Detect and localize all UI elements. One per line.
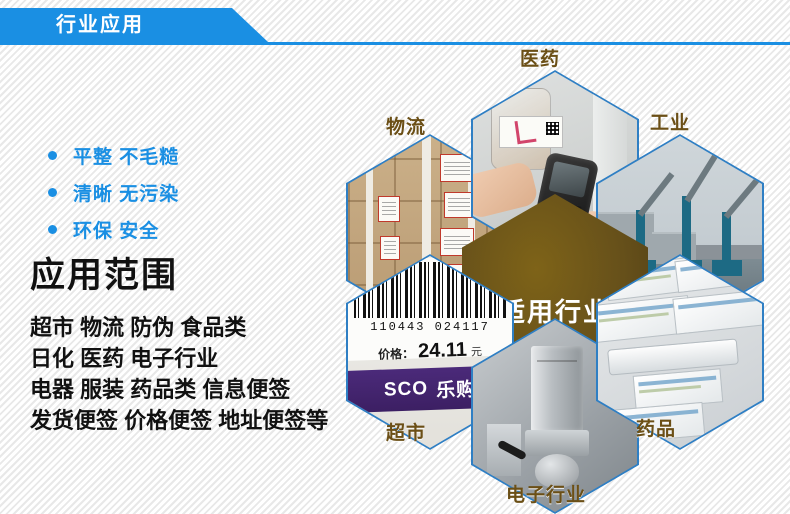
hex-label-logistics: 物流 [386,112,426,139]
handwriting-mark-icon [514,119,536,144]
retailer-brand-prefix: SCO [384,378,429,402]
feature-list: 平整 不毛糙 清晰 无污染 环保 安全 [48,140,278,251]
price-label: 价格： [378,345,415,363]
carton-label [380,236,400,260]
bullet-dot-icon [48,151,57,160]
box-print [598,303,684,316]
scope-heading: 应用范围 [30,247,178,298]
header-banner: 行业应用 [0,8,268,42]
crane-mast [682,196,691,264]
carton-label [378,196,400,222]
pneumatic-cylinder [531,346,583,432]
qr-code-icon [546,122,559,135]
barcode-digits: 110443 024117 [352,320,508,334]
crane-boom [724,177,761,219]
hex-label-supermarket: 超市 [386,418,426,445]
hex-label-electronics: 电子行业 [506,480,586,507]
feature-label: 环保 安全 [73,216,159,243]
feature-label: 清晰 无污染 [73,179,179,206]
crane-boom [684,136,729,203]
bullet-dot-icon [48,188,57,197]
price-value: 24.11 [418,339,468,364]
scope-line: 超市 物流 防伪 食品类 [30,312,370,343]
hex-label-medicine: 医药 [520,44,560,71]
scope-line: 日化 医药 电子行业 [30,343,370,374]
cylinder-stripe [537,360,577,362]
price-unit: 元 [471,343,483,359]
box-print [638,376,716,387]
hex-label-pharma: 药品 [636,414,676,441]
crane-boom [638,172,675,217]
cylinder-head [525,430,589,456]
feature-item: 清晰 无污染 [48,177,278,208]
carton-label [444,192,474,218]
scanner-screen [548,161,589,198]
feature-item: 平整 不毛糙 [48,140,278,171]
bullet-dot-icon [48,225,57,234]
scope-line-list: 超市 物流 防伪 食品类 日化 医药 电子行业 电器 服装 药品类 信息便签 发… [30,312,370,436]
feature-label: 平整 不毛糙 [73,142,179,169]
crane-mast [722,212,731,264]
scope-line: 发货便签 价格便签 地址便签等 [30,405,370,436]
crane-base [712,260,742,276]
box-print [678,297,760,310]
box-print [639,385,701,393]
retailer-brand: 乐购 [436,374,477,402]
page-root: 行业应用 平整 不毛糙 清晰 无污染 环保 安全 应用范围 超市 物流 防伪 食… [0,0,790,514]
page-title: 行业应用 [56,8,144,42]
scope-line: 电器 服装 药品类 信息便签 [30,374,370,405]
industry-hexagon-cluster: 物流 医药 [330,36,780,514]
iv-bag-label [499,116,563,148]
feature-item: 环保 安全 [48,214,278,245]
hex-label-industry: 工业 [650,108,690,135]
